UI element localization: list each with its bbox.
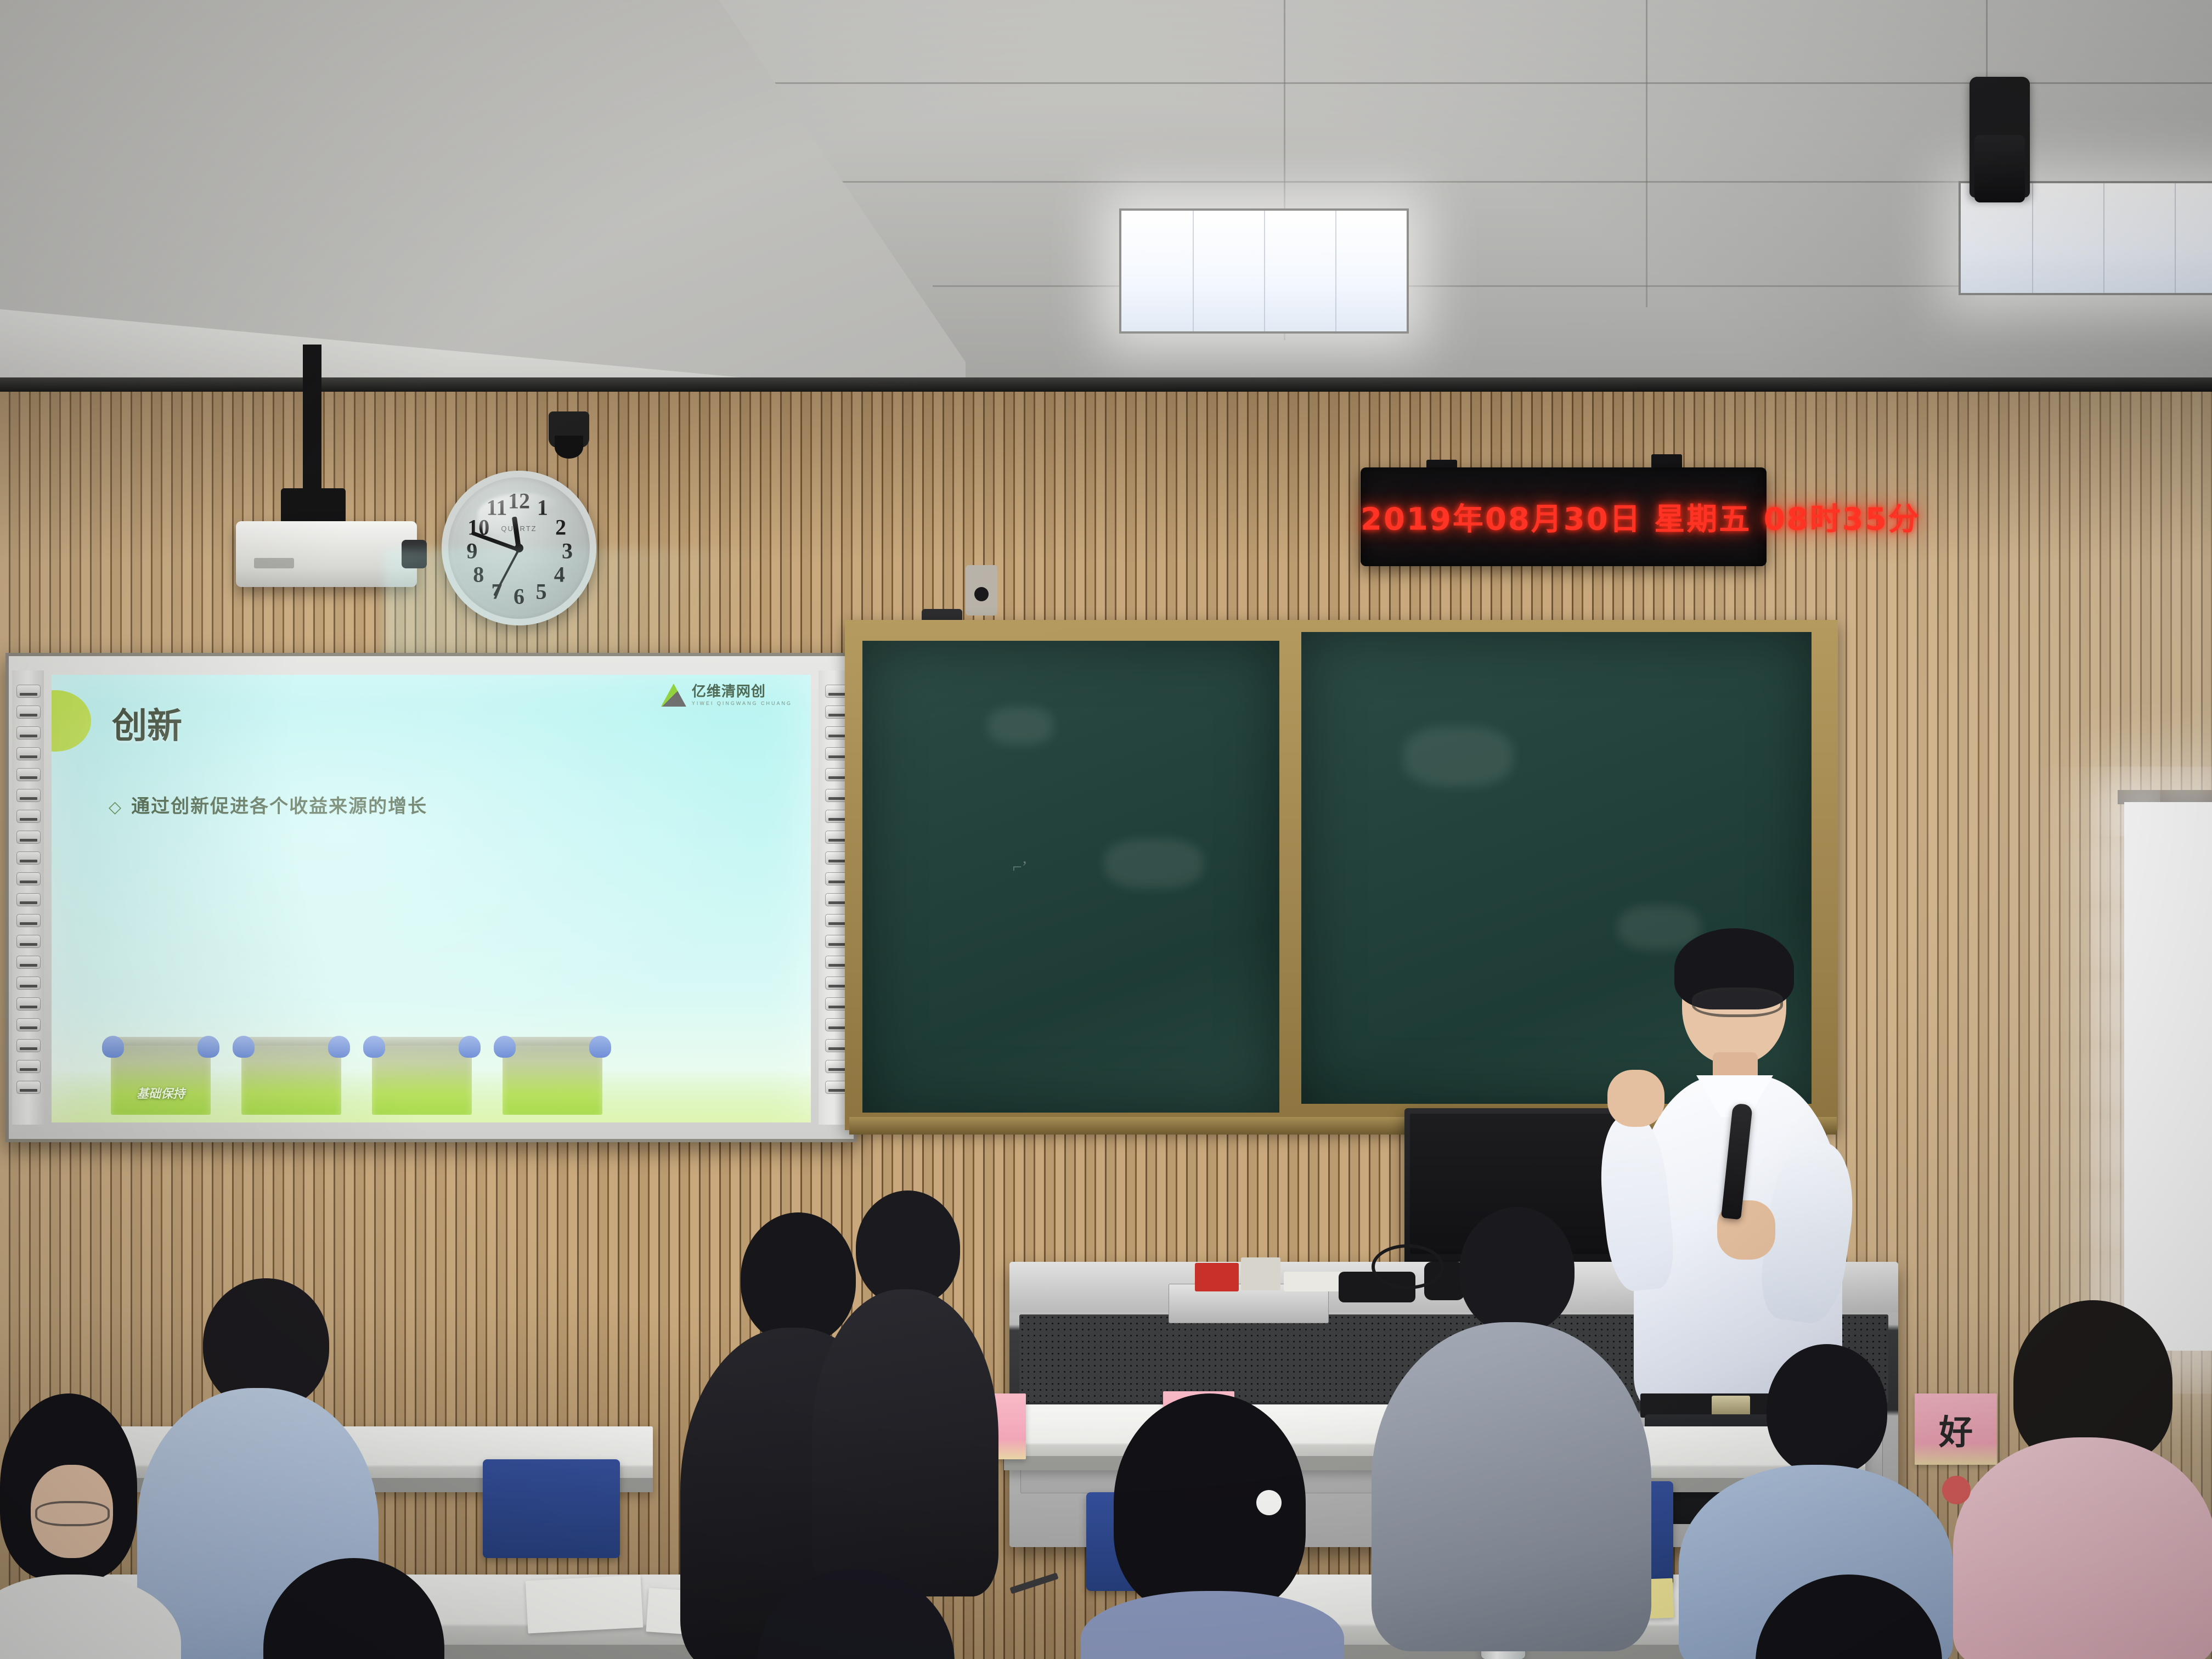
chair-back-1[interactable] xyxy=(483,1459,620,1558)
projected-slide: 创新 ◇通过创新促进各个收益来源的增长 亿维清网创 YIWEI QINGWANG… xyxy=(52,675,811,1122)
audience-hair-tie xyxy=(1256,1490,1282,1515)
whiteboard-rail-button[interactable] xyxy=(16,872,41,885)
ceiling-speaker xyxy=(1970,77,2030,198)
ceiling-light-center xyxy=(1119,208,1409,334)
slide-scroll-3 xyxy=(363,1034,481,1115)
led-sign-text: 2019年08月30日 星期五 08时35分 xyxy=(1361,495,1767,539)
presenter-left-fist xyxy=(1607,1070,1664,1127)
slide-accent-shape xyxy=(52,690,91,752)
audience-head xyxy=(856,1190,960,1306)
projector xyxy=(236,521,417,587)
whiteboard-rail-button[interactable] xyxy=(16,706,41,719)
blackboard-chalk-mark: ⌐ʼ xyxy=(1013,858,1028,877)
audience-body xyxy=(1081,1591,1344,1659)
audience-head xyxy=(1459,1207,1575,1333)
whiteboard-rail-button[interactable] xyxy=(16,831,41,844)
whiteboard-rail-button[interactable] xyxy=(16,685,41,698)
clock-glass-reflection xyxy=(477,493,569,538)
whiteboard-rail-button[interactable] xyxy=(16,1018,41,1031)
audience-member-pink-top xyxy=(1953,1300,2212,1659)
ceiling-cctv-camera xyxy=(549,411,589,448)
projector-mount-pole xyxy=(303,345,321,509)
logo-triangle-icon xyxy=(661,684,686,707)
blackboard-panel-left: ⌐ʼ xyxy=(862,641,1279,1113)
audience-head xyxy=(757,1569,955,1659)
audience-member-white-top xyxy=(0,1393,165,1659)
led-date-time-sign: 2019年08月30日 星期五 08时35分 xyxy=(1361,467,1767,566)
audience-member-ponytail xyxy=(1075,1393,1350,1659)
audience-head xyxy=(1767,1344,1887,1476)
slide-bullet: ◇通过创新促进各个收益来源的增长 xyxy=(109,791,427,818)
slide-bullet-text: 通过创新促进各个收益来源的增长 xyxy=(131,795,427,817)
logo-text: 亿维清网创 xyxy=(692,685,792,699)
slide-scroll-2 xyxy=(233,1034,350,1115)
wall-top-trim xyxy=(0,377,2212,392)
podium-gray-box xyxy=(1241,1257,1280,1290)
camera-lens-icon xyxy=(974,587,989,601)
podium-red-box xyxy=(1195,1263,1239,1291)
cctv-dome xyxy=(555,436,583,459)
audience-member-dark-top xyxy=(812,1190,998,1585)
audience-member-bottom-left xyxy=(230,1558,472,1659)
audience-wristband xyxy=(1942,1476,1971,1504)
presenter-glasses xyxy=(1692,988,1783,1017)
slide-scroll-4 xyxy=(494,1034,611,1115)
bullet-marker-icon: ◇ xyxy=(109,798,122,817)
whiteboard-rail-button[interactable] xyxy=(16,997,41,1011)
whiteboard-rail-button[interactable] xyxy=(16,810,41,823)
whiteboard-rail-button[interactable] xyxy=(16,851,41,865)
audience-member-bottom-center xyxy=(735,1569,977,1659)
slide-scroll-1: 基础保持 xyxy=(102,1034,219,1115)
audience-head xyxy=(263,1558,444,1659)
whiteboard-rail-button[interactable] xyxy=(16,1060,41,1073)
whiteboard-rail-button[interactable] xyxy=(16,935,41,948)
slide-title: 创新 xyxy=(112,698,182,748)
whiteboard-rail-button[interactable] xyxy=(16,1039,41,1052)
whiteboard-rail-button[interactable] xyxy=(16,768,41,781)
whiteboard-rail-button[interactable] xyxy=(16,956,41,969)
audience-glasses xyxy=(35,1501,110,1526)
wall-camera xyxy=(966,565,997,616)
whiteboard-rail-button[interactable] xyxy=(16,977,41,990)
clock-face: QUARTZ 12 1 2 3 4 5 6 7 8 9 10 11 xyxy=(454,483,584,613)
whiteboard-rail-button[interactable] xyxy=(16,747,41,760)
audience-member-bottom-right xyxy=(1734,1575,1964,1659)
whiteboard-rail-button[interactable] xyxy=(16,1081,41,1094)
whiteboard-rail-button[interactable] xyxy=(16,726,41,740)
projector-lens xyxy=(402,540,427,569)
audience-head xyxy=(1756,1575,1942,1659)
audience-body xyxy=(0,1575,181,1659)
audience-body xyxy=(1953,1437,2212,1659)
window xyxy=(2124,802,2212,1351)
logo-subtext: YIWEI QINGWANG CHUANG xyxy=(692,701,792,706)
whiteboard-rail-button[interactable] xyxy=(16,893,41,906)
scroll-label: 基础保持 xyxy=(102,1084,219,1102)
audience-body xyxy=(812,1289,998,1596)
desk-paper-1 xyxy=(526,1575,644,1634)
interactive-whiteboard[interactable]: 创新 ◇通过创新促进各个收益来源的增长 亿维清网创 YIWEI QINGWANG… xyxy=(5,653,857,1142)
whiteboard-rail-button[interactable] xyxy=(16,789,41,802)
audience-member-gray-polo xyxy=(1366,1207,1651,1646)
clock-center-pin xyxy=(515,544,523,552)
classroom-scene: 2019年08月30日 星期五 08时35分 QUARTZ 12 1 2 3 4… xyxy=(0,0,2212,1659)
whiteboard-rail-button[interactable] xyxy=(16,914,41,927)
wall-clock: QUARTZ 12 1 2 3 4 5 6 7 8 9 10 11 xyxy=(442,471,596,625)
audience-body xyxy=(1372,1322,1651,1651)
slide-logo: 亿维清网创 YIWEI QINGWANG CHUANG xyxy=(661,684,792,707)
projector-vent xyxy=(254,558,294,568)
